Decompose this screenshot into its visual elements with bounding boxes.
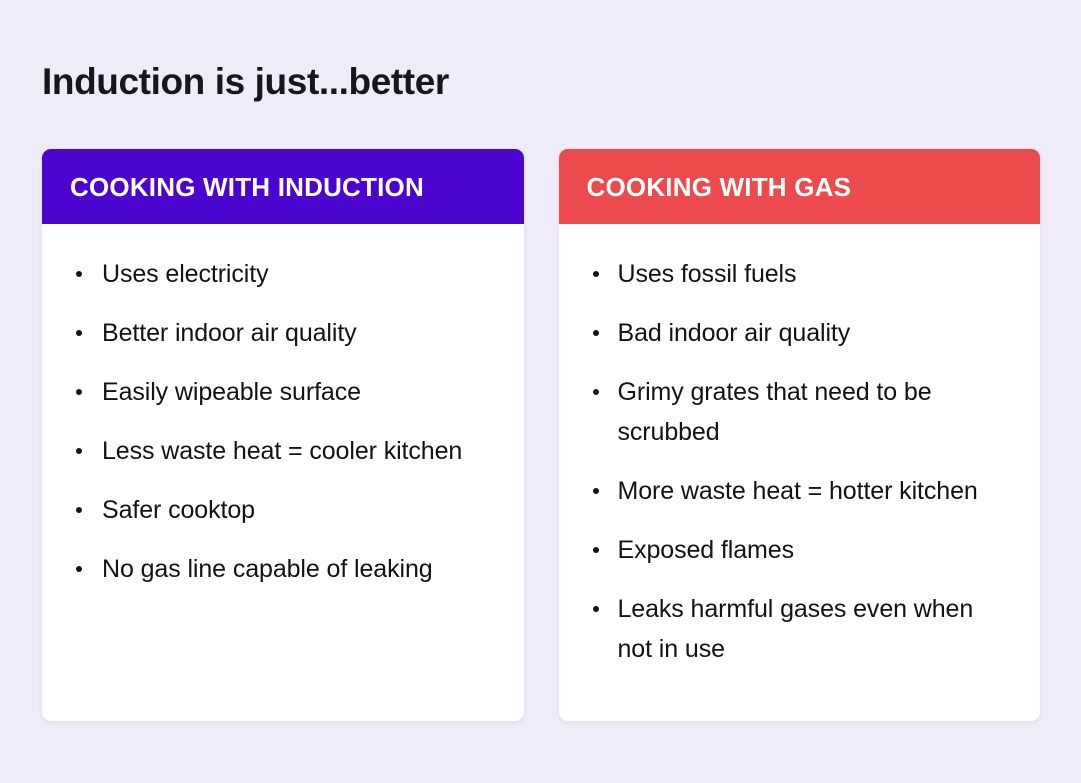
list-item-label: Better indoor air quality [102,319,357,347]
list-item-label: Safer cooktop [102,496,255,524]
card-gas-body: Uses fossil fuels Bad indoor air quality… [559,224,1041,721]
bullet-dot-icon [76,330,82,336]
comparison-infographic: Induction is just...better COOKING WITH … [0,0,1081,783]
card-gas-header-label: COOKING WITH GAS [587,172,852,202]
induction-benefit-list: Uses electricity Better indoor air quali… [72,254,494,589]
list-item: Less waste heat = cooler kitchen [72,431,494,471]
bullet-dot-icon [76,271,82,277]
list-item-label: Grimy grates that need to be scrubbed [618,378,932,446]
bullet-dot-icon [593,606,599,612]
list-item-label: Bad indoor air quality [618,319,851,347]
list-item-label: Exposed flames [618,536,794,564]
comparison-cards: COOKING WITH INDUCTION Uses electricity … [42,149,1040,721]
list-item: Grimy grates that need to be scrubbed [589,372,1011,452]
bullet-dot-icon [76,448,82,454]
bullet-dot-icon [593,488,599,494]
list-item-label: Uses fossil fuels [618,260,797,288]
bullet-dot-icon [593,389,599,395]
card-gas: COOKING WITH GAS Uses fossil fuels Bad i… [559,149,1041,721]
list-item-label: More waste heat = hotter kitchen [618,477,978,505]
list-item-label: Easily wipeable surface [102,378,361,406]
list-item: Better indoor air quality [72,313,494,353]
list-item-label: Uses electricity [102,260,269,288]
gas-drawback-list: Uses fossil fuels Bad indoor air quality… [589,254,1011,669]
list-item: Uses fossil fuels [589,254,1011,294]
bullet-dot-icon [593,271,599,277]
card-induction-header: COOKING WITH INDUCTION [42,149,524,224]
list-item: More waste heat = hotter kitchen [589,471,1011,511]
card-induction-body: Uses electricity Better indoor air quali… [42,224,524,721]
card-induction: COOKING WITH INDUCTION Uses electricity … [42,149,524,721]
list-item-label: Leaks harmful gases even when not in use [618,595,974,663]
bullet-dot-icon [593,330,599,336]
list-item: Uses electricity [72,254,494,294]
list-item-label: No gas line capable of leaking [102,555,433,583]
list-item: Safer cooktop [72,490,494,530]
list-item: No gas line capable of leaking [72,549,494,589]
bullet-dot-icon [593,547,599,553]
bullet-dot-icon [76,507,82,513]
page-title: Induction is just...better [42,58,449,106]
bullet-dot-icon [76,566,82,572]
list-item: Easily wipeable surface [72,372,494,412]
list-item: Exposed flames [589,530,1011,570]
card-induction-header-label: COOKING WITH INDUCTION [70,172,424,202]
list-item-label: Less waste heat = cooler kitchen [102,437,462,465]
card-gas-header: COOKING WITH GAS [559,149,1041,224]
list-item: Bad indoor air quality [589,313,1011,353]
list-item: Leaks harmful gases even when not in use [589,589,1011,669]
bullet-dot-icon [76,389,82,395]
